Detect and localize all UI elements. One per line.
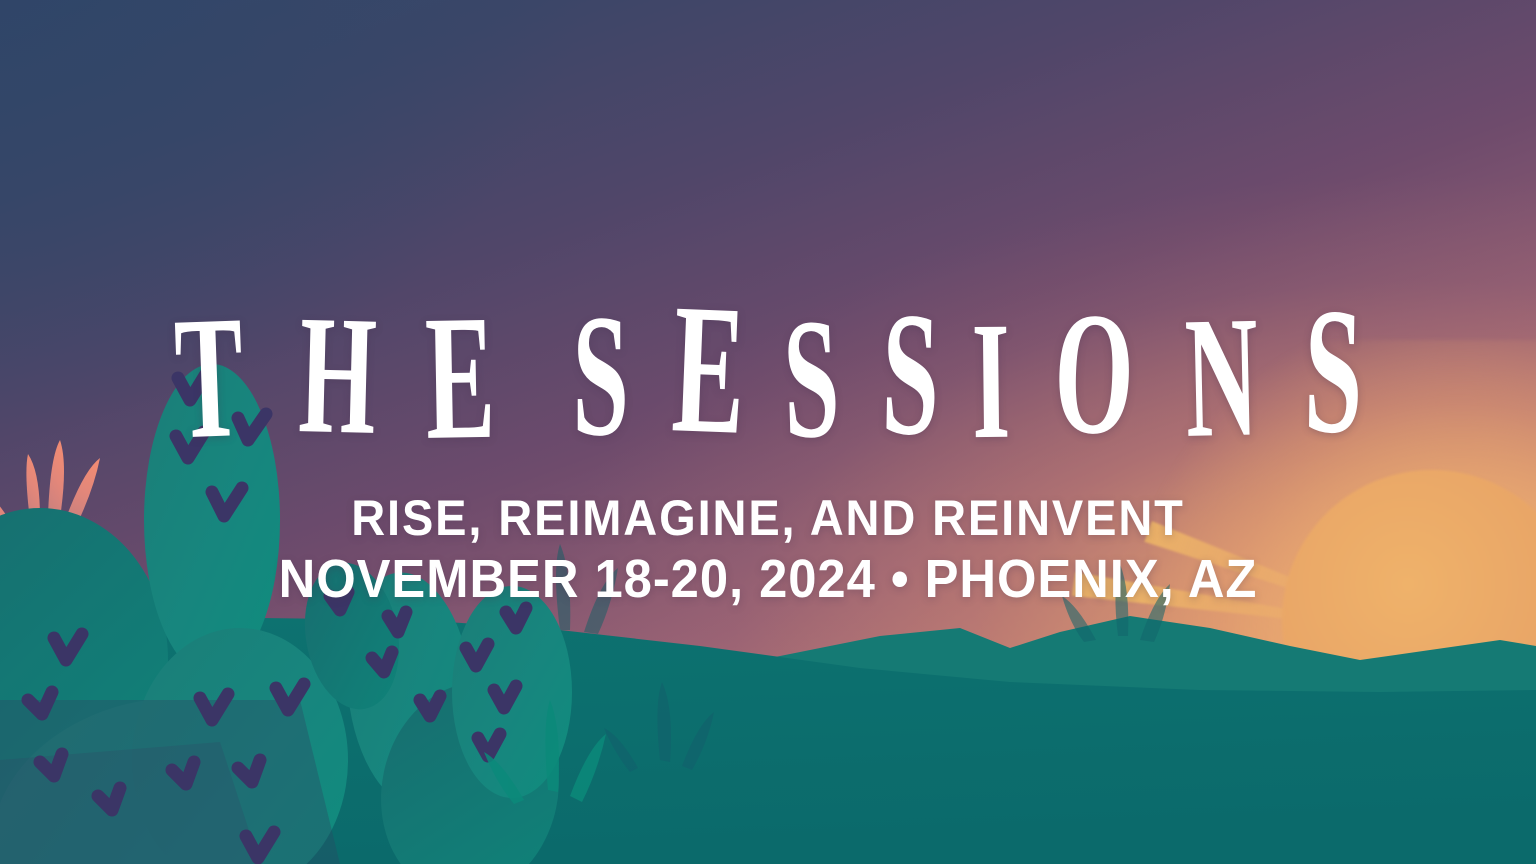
prickly-pear-cactus [144, 364, 280, 676]
event-banner: THESESSIONS RISE, REIMAGINE, AND REINVEN… [0, 0, 1536, 864]
desert-landscape [0, 0, 1536, 864]
